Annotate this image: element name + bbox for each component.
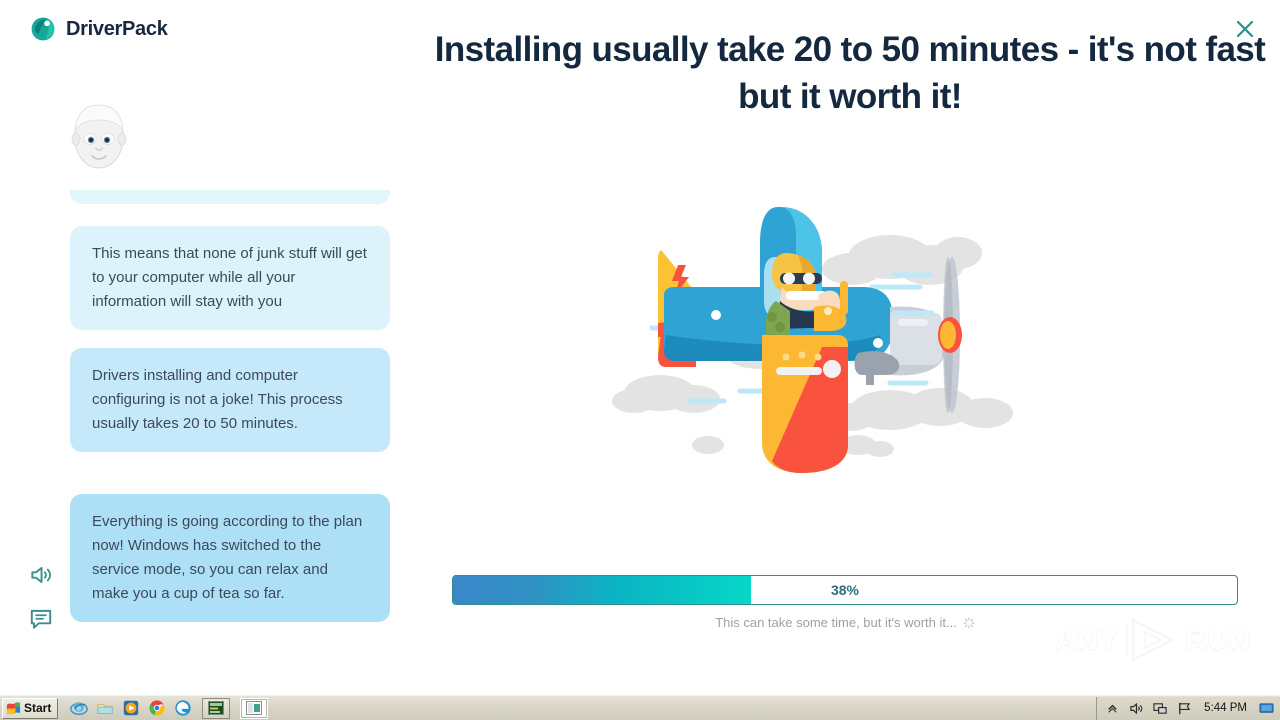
brand-logo-area: DriverPack xyxy=(30,16,168,42)
brand-name: DriverPack xyxy=(66,18,168,41)
assistant-panel: DriverPack This means that none of junk … xyxy=(0,0,420,690)
driverpack-window-icon xyxy=(246,701,262,715)
progress-bar-track: 38% xyxy=(452,575,1238,605)
assistant-message-list: This means that none of junk stuff will … xyxy=(0,190,420,650)
main-content: Installing usually take 20 to 50 minutes… xyxy=(420,0,1280,690)
taskbar-task-driverpack[interactable] xyxy=(240,698,268,719)
list-item: Everything is going according to the pla… xyxy=(70,494,390,622)
taskbar-task-console[interactable] xyxy=(202,698,230,719)
console-window-icon xyxy=(208,701,224,715)
loading-spinner-icon xyxy=(963,617,975,629)
folder-icon[interactable] xyxy=(96,699,114,717)
quick-launch-bar: e xyxy=(70,699,192,717)
airplane-pilot-illustration xyxy=(590,195,1060,495)
chrome-icon[interactable] xyxy=(148,699,166,717)
start-button[interactable]: Start xyxy=(2,698,58,719)
svg-text:e: e xyxy=(77,704,81,713)
start-button-label: Start xyxy=(24,701,51,715)
clock[interactable]: 5:44 PM xyxy=(1201,702,1250,714)
assistant-avatar-face xyxy=(70,98,128,170)
install-progress: 38% This can take some time, but it's wo… xyxy=(452,575,1238,630)
sound-icon[interactable] xyxy=(28,562,54,588)
list-item: This means that none of junk stuff will … xyxy=(70,226,390,330)
internet-explorer-icon[interactable]: e xyxy=(70,699,88,717)
action-flag-icon[interactable] xyxy=(1177,701,1192,716)
progress-percent-label: 38% xyxy=(453,576,1237,604)
show-hidden-icons-icon[interactable] xyxy=(1105,701,1120,716)
assistant-toolbar xyxy=(28,562,54,632)
driverpack-installer-window: DriverPack This means that none of junk … xyxy=(0,0,1280,720)
windows-taskbar: Start e xyxy=(0,695,1280,720)
network-icon[interactable] xyxy=(1153,701,1168,716)
show-desktop-icon[interactable] xyxy=(1259,701,1274,716)
edge-icon[interactable] xyxy=(174,699,192,717)
media-player-icon[interactable] xyxy=(122,699,140,717)
list-item: Drivers installing and computer configur… xyxy=(70,348,390,452)
progress-caption-text: This can take some time, but it's worth … xyxy=(715,615,957,630)
chat-icon[interactable] xyxy=(28,606,54,632)
list-item xyxy=(70,190,390,204)
driverpack-logo-icon xyxy=(30,16,56,42)
system-tray: 5:44 PM xyxy=(1096,697,1280,720)
page-title: Installing usually take 20 to 50 minutes… xyxy=(430,26,1270,120)
volume-icon[interactable] xyxy=(1129,701,1144,716)
windows-flag-icon xyxy=(6,701,21,716)
progress-caption: This can take some time, but it's worth … xyxy=(452,615,1238,630)
